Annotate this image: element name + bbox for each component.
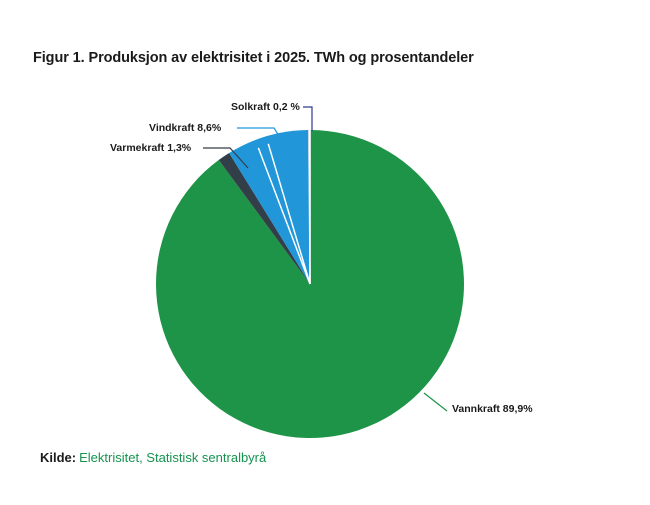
pie-label-vannkraft: Vannkraft 89,9% [452,403,533,415]
pie-label-solkraft: Solkraft 0,2 % [231,101,300,113]
leader-line-vannkraft [424,393,447,411]
pie-chart-svg [0,0,650,500]
figure-container: Figur 1. Produksjon av elektrisitet i 20… [0,0,650,500]
pie-label-varmekraft: Varmekraft 1,3% [110,142,191,154]
source-label: Kilde: [40,450,76,465]
source-link[interactable]: Elektrisitet, Statistisk sentralbyrå [79,450,266,465]
source-line: Kilde:Elektrisitet, Statistisk sentralby… [40,450,266,465]
leader-line-solkraft [303,107,312,131]
pie-label-vindkraft: Vindkraft 8,6% [149,122,221,134]
pie-chart-plot-area: Solkraft 0,2 % Vindkraft 8,6% Varmekraft… [0,0,650,500]
